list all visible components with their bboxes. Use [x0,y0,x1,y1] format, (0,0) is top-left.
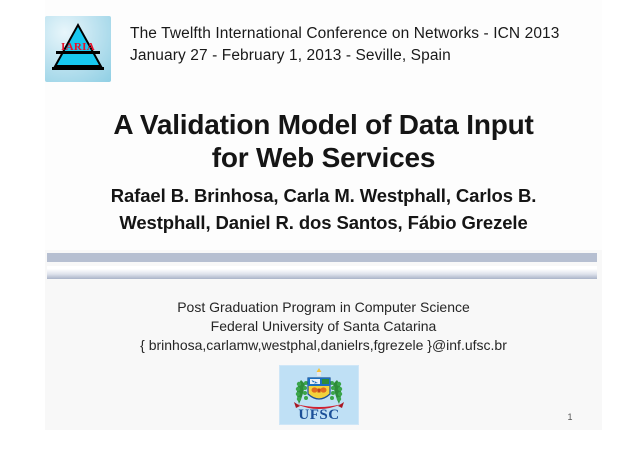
conference-date-location: January 27 - February 1, 2013 - Seville,… [130,45,560,67]
author-list-line-2: Westphall, Daniel R. dos Santos, Fábio G… [45,209,602,236]
slide-header: IARIA The Twelfth International Conferen… [45,16,605,86]
page-number: 1 [563,412,577,423]
affiliation-email: { brinhosa,carlamw,westphal,danielrs,fgr… [45,336,602,355]
divider-bar-solid [47,253,597,262]
conference-info: The Twelfth International Conference on … [130,16,560,67]
divider-bar-gradient [47,266,597,279]
presentation-slide: IARIA The Twelfth International Conferen… [0,0,640,430]
iaria-logo-icon: IARIA [45,16,111,82]
iaria-triangle-base-icon [52,67,104,70]
ufsc-logo-text: UFSC [280,408,358,423]
ufsc-logo-icon: UFSC [279,365,359,425]
iaria-logo-text: IARIA [61,42,95,53]
affiliation-university: Federal University of Santa Catarina [45,317,602,336]
page-title-line-2: for Web Services [45,141,602,174]
conference-name: The Twelfth International Conference on … [130,23,560,45]
title-block: A Validation Model of Data Input for Web… [45,108,602,236]
author-list: Rafael B. Brinhosa, Carla M. Westphall, … [45,182,602,236]
page-title-line-1: A Validation Model of Data Input [45,108,602,141]
author-list-line-1: Rafael B. Brinhosa, Carla M. Westphall, … [45,182,602,209]
affiliation-block: Post Graduation Program in Computer Scie… [45,298,602,355]
affiliation-program: Post Graduation Program in Computer Scie… [45,298,602,317]
